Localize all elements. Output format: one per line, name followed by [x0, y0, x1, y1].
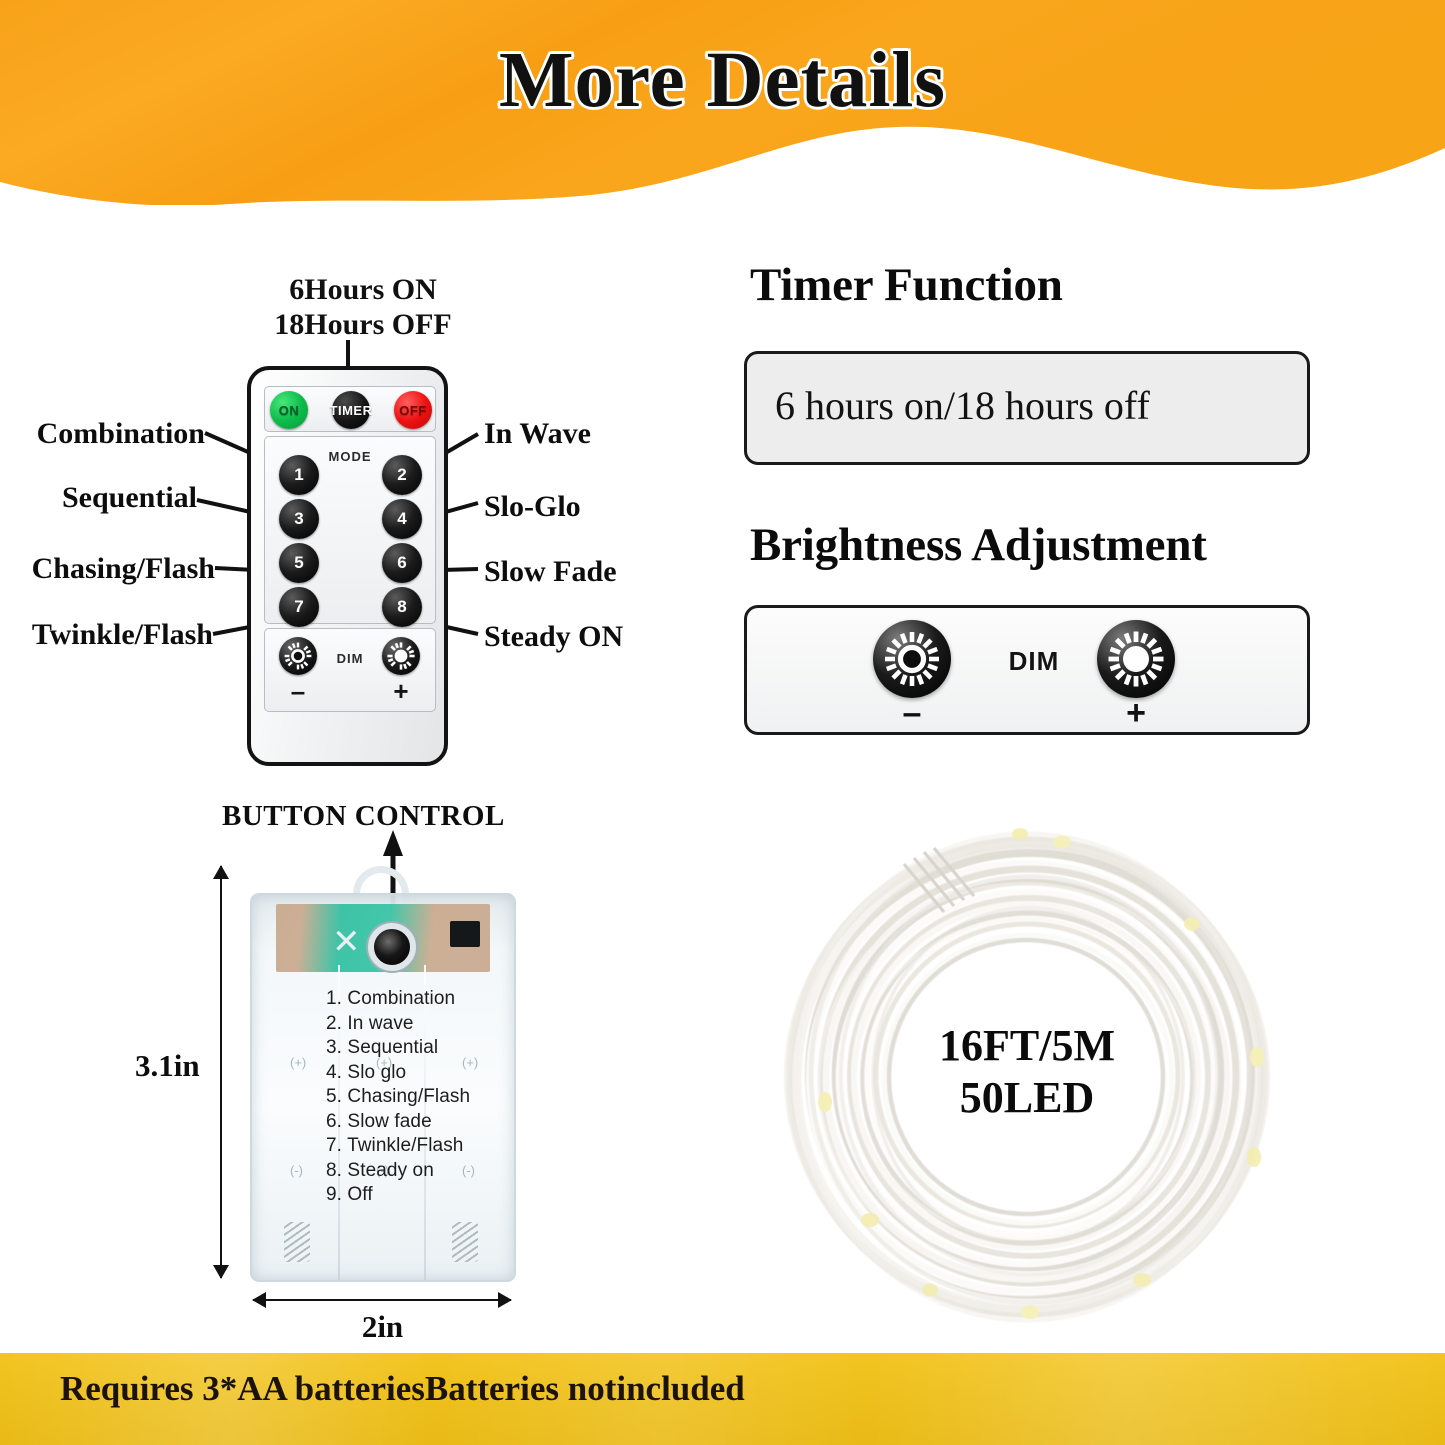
- mode-list-item: 2. In wave: [326, 1012, 470, 1037]
- mode-button-4-label: 4: [397, 509, 406, 529]
- battery-box-mode-list: 1. Combination 2. In wave 3. Sequential …: [326, 987, 470, 1208]
- remote-off-label: OFF: [399, 403, 427, 418]
- sun-dim-icon: [882, 629, 942, 689]
- header-banner: More Details: [0, 0, 1445, 205]
- remote-power-panel: ON TIMER OFF: [264, 386, 436, 432]
- remote-mode-button-2[interactable]: 2: [382, 455, 422, 495]
- timer-function-value: 6 hours on/18 hours off: [775, 382, 1150, 429]
- callout-in-wave: In Wave: [484, 417, 591, 451]
- battery-height-label: 3.1in: [135, 1048, 200, 1084]
- mode-list-item: 8. Steady on: [326, 1159, 470, 1184]
- button-control-annotation: BUTTON CONTROL: [222, 800, 505, 833]
- no-dispose-icon: ✕: [332, 925, 368, 959]
- remote-dim-down-button[interactable]: [279, 637, 317, 675]
- remote-dim-panel: DIM: [264, 628, 436, 712]
- mode-list-item: 7. Twinkle/Flash: [326, 1134, 470, 1159]
- remote-on-label: ON: [279, 403, 300, 418]
- remote-dim-minus-sign: –: [279, 681, 317, 701]
- remote-on-button[interactable]: ON: [270, 391, 308, 429]
- brightness-up-button[interactable]: [1097, 620, 1175, 698]
- battery-contact-spring: [452, 1222, 478, 1262]
- brightness-dim-label: DIM: [979, 646, 1089, 677]
- sun-dim-icon: [283, 641, 313, 671]
- coil-spec-text: 16FT/5M 50LED: [762, 1020, 1292, 1124]
- mode-button-3-label: 3: [294, 509, 303, 529]
- mode-button-6-label: 6: [397, 553, 406, 573]
- brightness-adjustment-card: DIM – +: [744, 605, 1310, 735]
- remote-off-button[interactable]: OFF: [394, 391, 432, 429]
- mode-button-2-label: 2: [397, 465, 406, 485]
- remote-timer-button[interactable]: TIMER: [332, 391, 370, 429]
- timer-annotation-line2: 18Hours OFF: [238, 307, 488, 342]
- remote-mode-button-8[interactable]: 8: [382, 587, 422, 627]
- remote-dim-up-button[interactable]: [382, 637, 420, 675]
- timer-function-card: 6 hours on/18 hours off: [744, 351, 1310, 465]
- remote-timer-annotation: 6Hours ON 18Hours OFF: [238, 272, 488, 343]
- battery-polarity-mark: (+): [290, 1055, 306, 1070]
- remote-mode-button-1[interactable]: 1: [279, 455, 319, 495]
- battery-height-dimension-arrow: [220, 866, 222, 1278]
- mode-list-item: 4. Slo glo: [326, 1061, 470, 1086]
- brightness-minus-sign: –: [873, 700, 951, 726]
- coil-led-count: 50LED: [762, 1072, 1292, 1124]
- mode-button-8-label: 8: [397, 597, 406, 617]
- mode-list-item: 5. Chasing/Flash: [326, 1085, 470, 1110]
- callout-twinkle-flash: Twinkle/Flash: [0, 618, 213, 652]
- callout-slow-fade: Slow Fade: [484, 555, 617, 589]
- mode-list-item: 9. Off: [326, 1183, 470, 1208]
- mode-button-7-label: 7: [294, 597, 303, 617]
- remote-mode-panel: MODE 1 2 3 4 5 6 7 8: [264, 436, 436, 624]
- circuit-chip: [450, 921, 480, 947]
- led-wire-coil: 16FT/5M 50LED: [762, 812, 1292, 1342]
- remote-timer-label: TIMER: [330, 403, 373, 418]
- battery-polarity-mark: (-): [290, 1163, 303, 1178]
- brightness-plus-sign: +: [1097, 700, 1175, 726]
- mode-list-item: 1. Combination: [326, 987, 470, 1012]
- sun-bright-icon: [386, 641, 416, 671]
- timer-function-title: Timer Function: [750, 258, 1063, 312]
- coil-length: 16FT/5M: [762, 1020, 1292, 1072]
- product-infographic: More Details 6Hours ON 18Hours OFF ON TI…: [0, 0, 1445, 1445]
- remote-mode-button-4[interactable]: 4: [382, 499, 422, 539]
- mode-button-1-label: 1: [294, 465, 303, 485]
- timer-annotation-line1: 6Hours ON: [238, 272, 488, 307]
- remote-mode-button-7[interactable]: 7: [279, 587, 319, 627]
- battery-box: ✕ (+) (+) (+) (-) (-) (-) 1. Combination…: [250, 893, 516, 1282]
- callout-sequential: Sequential: [0, 481, 197, 515]
- page-title: More Details: [0, 36, 1445, 126]
- remote-mode-button-6[interactable]: 6: [382, 543, 422, 583]
- brightness-down-button[interactable]: [873, 620, 951, 698]
- battery-width-dimension-arrow: [253, 1299, 511, 1301]
- sun-bright-icon: [1106, 629, 1166, 689]
- remote-mode-button-3[interactable]: 3: [279, 499, 319, 539]
- remote-control[interactable]: ON TIMER OFF MODE 1 2 3 4 5 6 7 8 DIM: [247, 366, 448, 766]
- mode-list-item: 6. Slow fade: [326, 1110, 470, 1135]
- callout-slo-glo: Slo-Glo: [484, 490, 581, 524]
- remote-dim-plus-sign: +: [382, 681, 420, 701]
- callout-combination: Combination: [0, 417, 205, 451]
- footer-banner: Requires 3*AA batteriesBatteries notincl…: [0, 1353, 1445, 1445]
- battery-width-label: 2in: [0, 1309, 765, 1345]
- remote-mode-button-5[interactable]: 5: [279, 543, 319, 583]
- battery-contact-spring: [284, 1222, 310, 1262]
- battery-box-push-button[interactable]: [368, 923, 416, 971]
- mode-list-item: 3. Sequential: [326, 1036, 470, 1061]
- brightness-adjustment-title: Brightness Adjustment: [750, 518, 1207, 572]
- callout-chasing-flash: Chasing/Flash: [0, 552, 215, 586]
- footer-note: Requires 3*AA batteriesBatteries notincl…: [60, 1369, 745, 1409]
- mode-button-5-label: 5: [294, 553, 303, 573]
- callout-steady-on: Steady ON: [484, 620, 623, 654]
